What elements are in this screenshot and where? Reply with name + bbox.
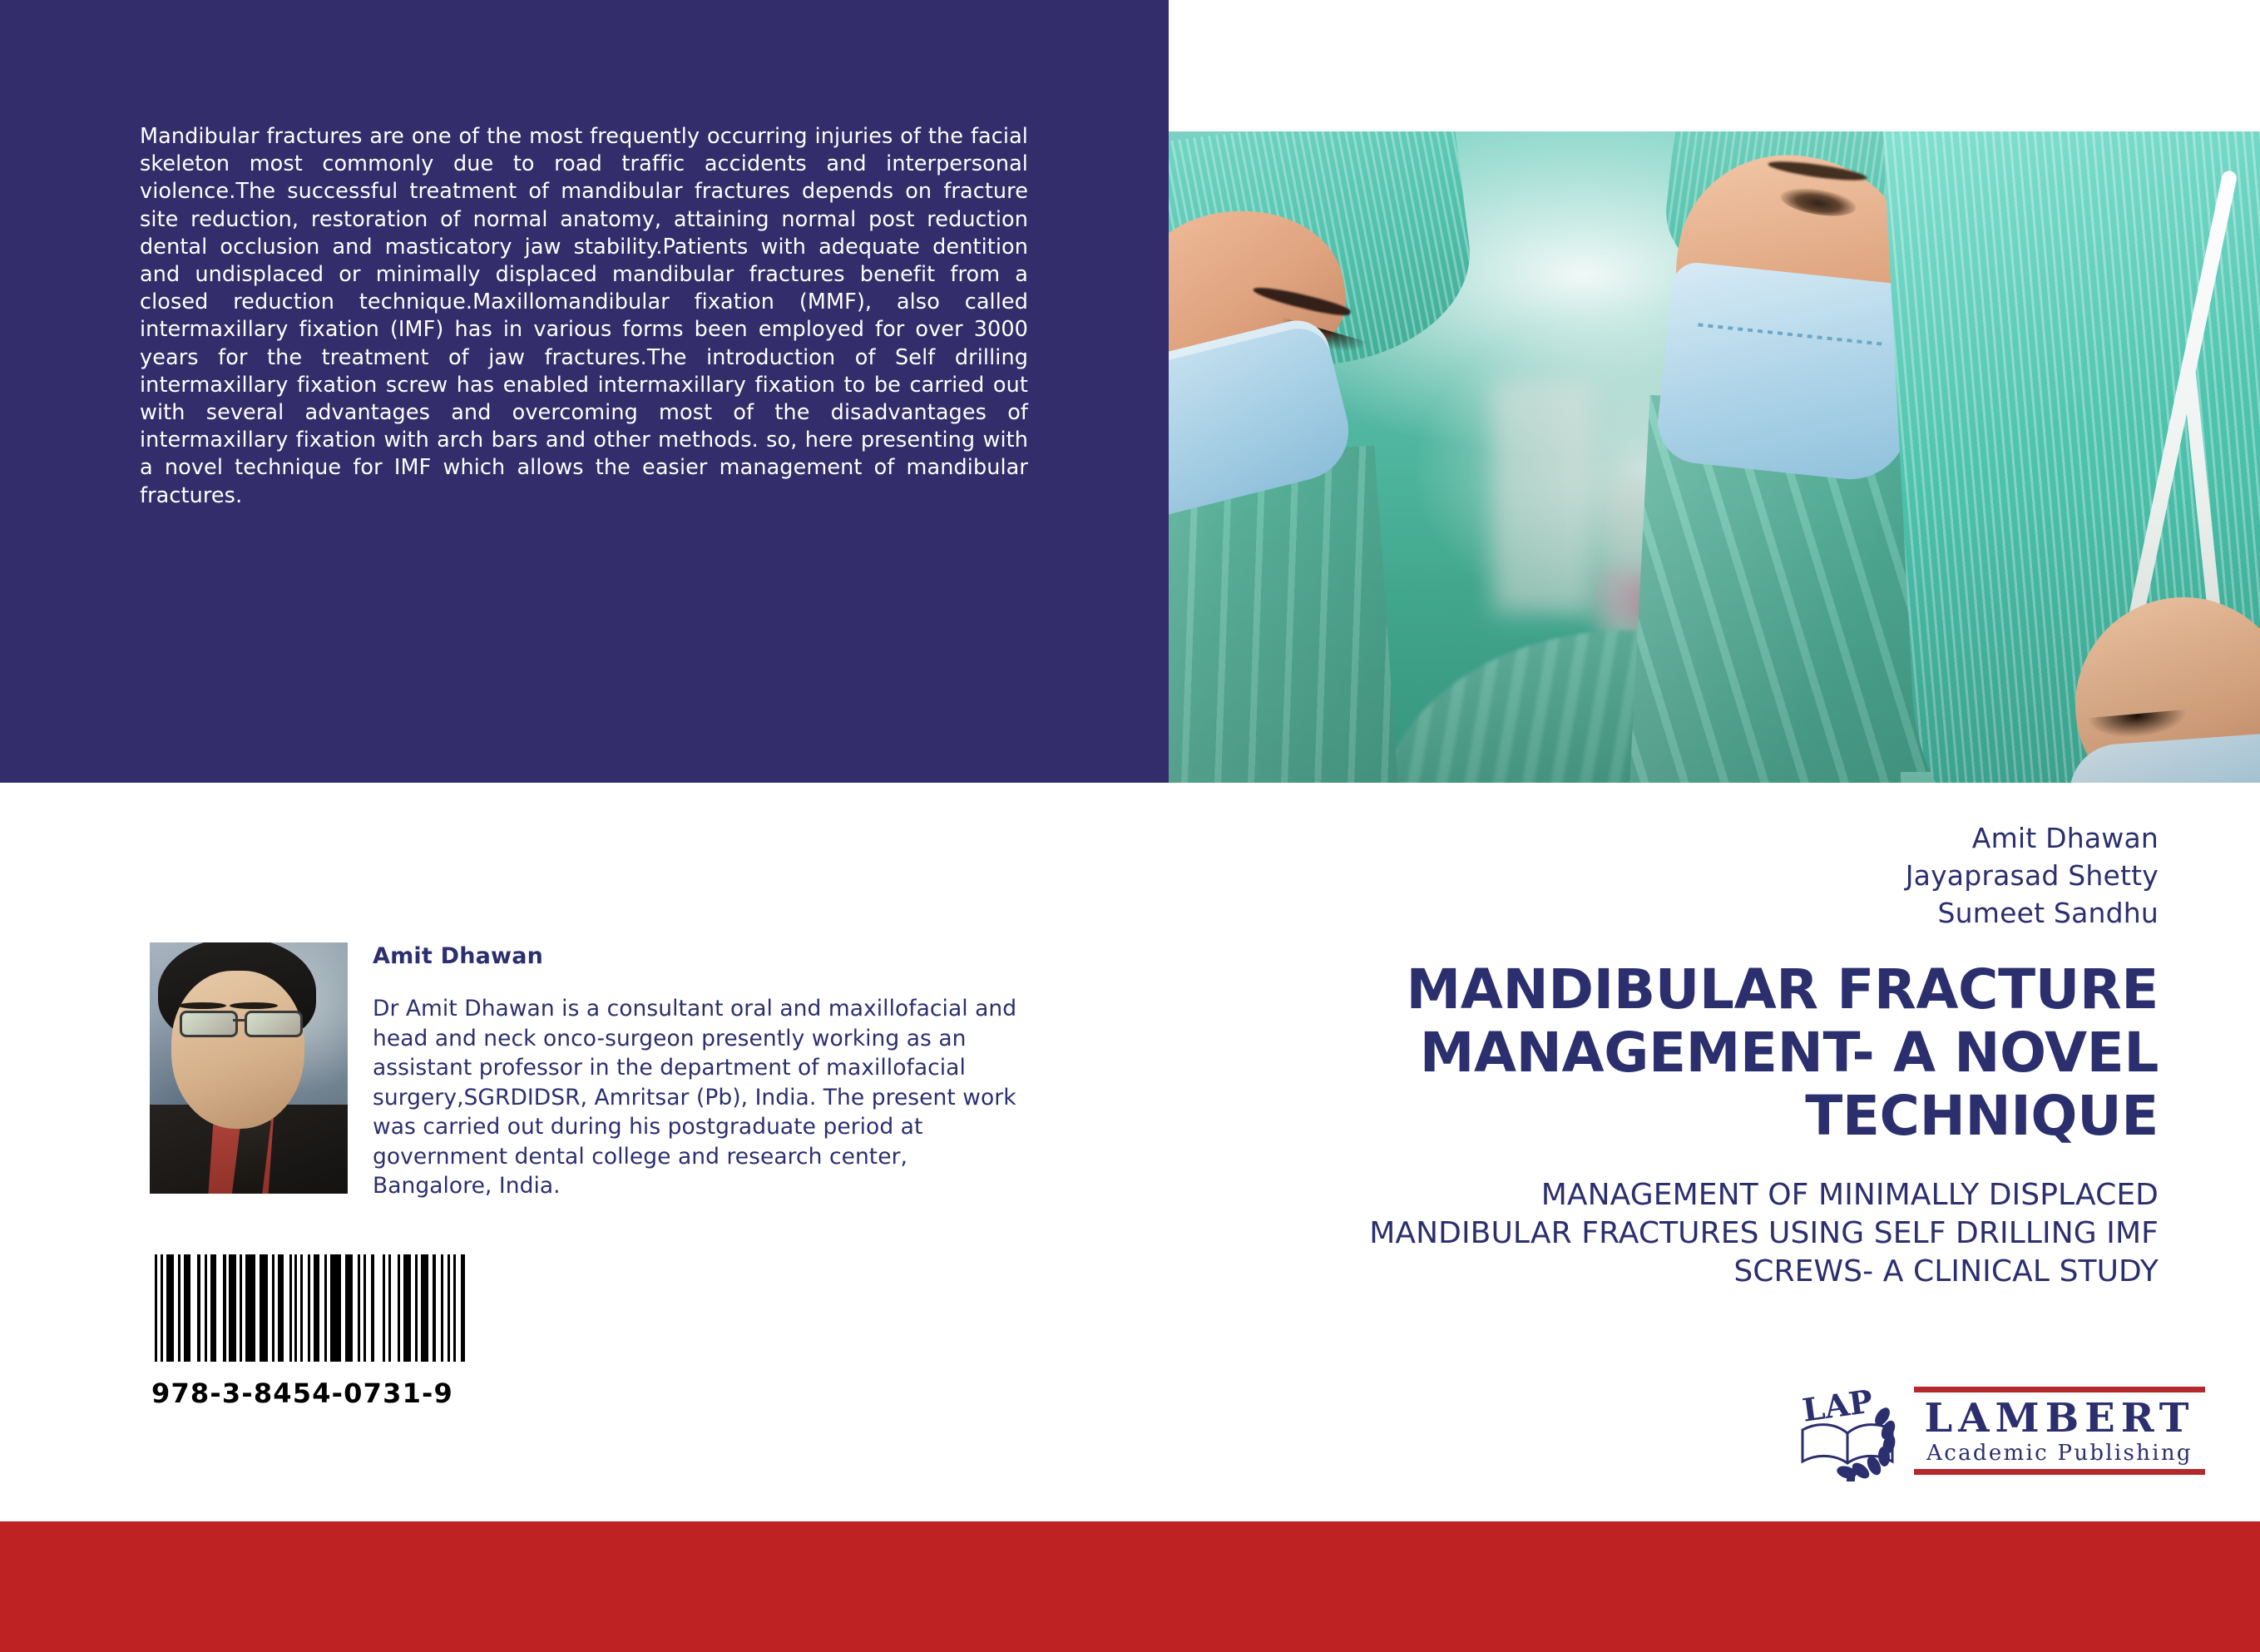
front-cover-subtitle: MANAGEMENT OF MINIMALLY DISPLACED MANDIB… (1144, 1176, 2159, 1291)
author-bio-text-column: Amit Dhawan Dr Amit Dhawan is a consulta… (373, 942, 1030, 1201)
front-cover-authors: Amit Dhawan Jayaprasad Shetty Sumeet San… (1160, 819, 2159, 932)
title-line-2: MANAGEMENT- A NOVEL (1144, 1021, 2159, 1085)
portrait-face (171, 971, 304, 1129)
front-cover-author-1: Amit Dhawan (1160, 819, 2159, 857)
portrait-brow-left (178, 1002, 226, 1009)
photo-vignette (1169, 131, 2260, 783)
back-cover-navy-panel: Mandibular fractures are one of the most… (0, 0, 1169, 783)
author-portrait-photo (150, 942, 348, 1194)
subtitle-line-1: MANAGEMENT OF MINIMALLY DISPLACED (1144, 1176, 2159, 1214)
publisher-logo: LAP LAMBERT Academic Publishing (1799, 1383, 2207, 1491)
front-cover-title: MANDIBULAR FRACTURE MANAGEMENT- A NOVEL … (1144, 958, 2159, 1148)
title-line-3: TECHNIQUE (1144, 1085, 2159, 1148)
publisher-tagline: Academic Publishing (1914, 1441, 2205, 1466)
logo-rule-bottom (1914, 1469, 2205, 1475)
eyeglass-bridge (233, 1019, 245, 1021)
lap-book-laurel-icon: LAP (1799, 1383, 1906, 1481)
back-cover-blurb: Mandibular fractures are one of the most… (140, 123, 1028, 510)
publisher-name: LAMBERT (1914, 1396, 2205, 1441)
subtitle-line-3: SCREWS- A CLINICAL STUDY (1144, 1253, 2159, 1291)
isbn-number: 978-3-8454-0731-9 (151, 1377, 501, 1409)
isbn-barcode-block: 978-3-8454-0731-9 (151, 1252, 501, 1409)
cover-photo-surgeons (1169, 131, 2260, 783)
lambert-wordmark: LAMBERT Academic Publishing (1914, 1387, 2205, 1475)
title-line-1: MANDIBULAR FRACTURE (1144, 958, 2159, 1021)
author-bio-paragraph: Dr Amit Dhawan is a consultant oral and … (373, 994, 1030, 1201)
portrait-eyeglasses (175, 1011, 306, 1032)
eyeglass-lens-left (180, 1011, 238, 1037)
portrait-brow-right (230, 1002, 278, 1009)
logo-rule-top (1914, 1387, 2205, 1392)
front-cover-author-3: Sumeet Sandhu (1160, 894, 2159, 932)
front-cover-author-2: Jayaprasad Shetty (1160, 857, 2159, 894)
bottom-red-bar (0, 1521, 2260, 1652)
subtitle-line-2: MANDIBULAR FRACTURES USING SELF DRILLING… (1144, 1214, 2159, 1253)
svg-text:LAP: LAP (1800, 1383, 1875, 1429)
barcode-image (151, 1252, 476, 1364)
eyeglass-lens-right (245, 1011, 303, 1037)
author-bio-name: Amit Dhawan (373, 942, 1030, 971)
